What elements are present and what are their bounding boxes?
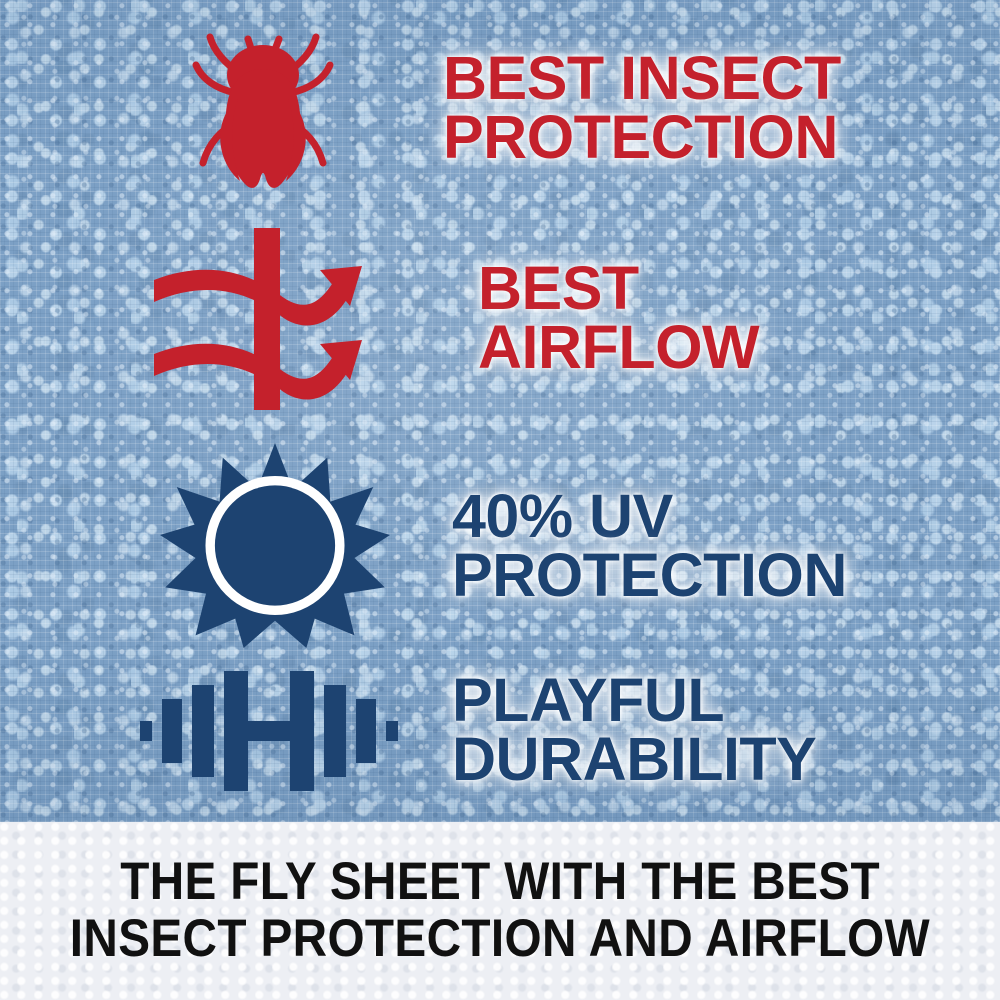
feature-label-durability: PLAYFUL DURABILITY	[452, 671, 816, 788]
feature-icon-cell	[160, 438, 390, 653]
feature-label-insect-protection: BEST INSECT PROTECTION	[443, 49, 841, 166]
sun-uv-icon	[160, 438, 390, 653]
tagline-line-2: INSECT PROTECTION AND AIRFLOW	[70, 911, 930, 968]
feature-list: BEST INSECT PROTECTION	[0, 0, 1000, 822]
product-feature-poster: BEST INSECT PROTECTION	[0, 0, 1000, 1000]
tagline-line-1: THE FLY SHEET WITH THE BEST	[120, 854, 880, 911]
feature-row-insect-protection: BEST INSECT PROTECTION	[170, 8, 1000, 208]
feature-icon-cell	[170, 13, 355, 203]
feature-icon-cell	[138, 663, 400, 798]
feature-label-airflow: BEST AIRFLOW	[478, 259, 759, 376]
airflow-arrows-icon	[150, 226, 380, 411]
dumbbell-icon	[138, 663, 400, 798]
feature-row-durability: PLAYFUL DURABILITY	[138, 650, 1000, 810]
feature-row-airflow: BEST AIRFLOW	[150, 222, 1000, 414]
feature-icon-cell	[150, 226, 380, 411]
fly-icon	[170, 13, 355, 203]
feature-row-uv-protection: 40% UV PROTECTION	[160, 438, 1000, 653]
feature-label-uv-protection: 40% UV PROTECTION	[452, 487, 847, 604]
bottom-tagline-banner: THE FLY SHEET WITH THE BEST INSECT PROTE…	[0, 822, 1000, 1000]
